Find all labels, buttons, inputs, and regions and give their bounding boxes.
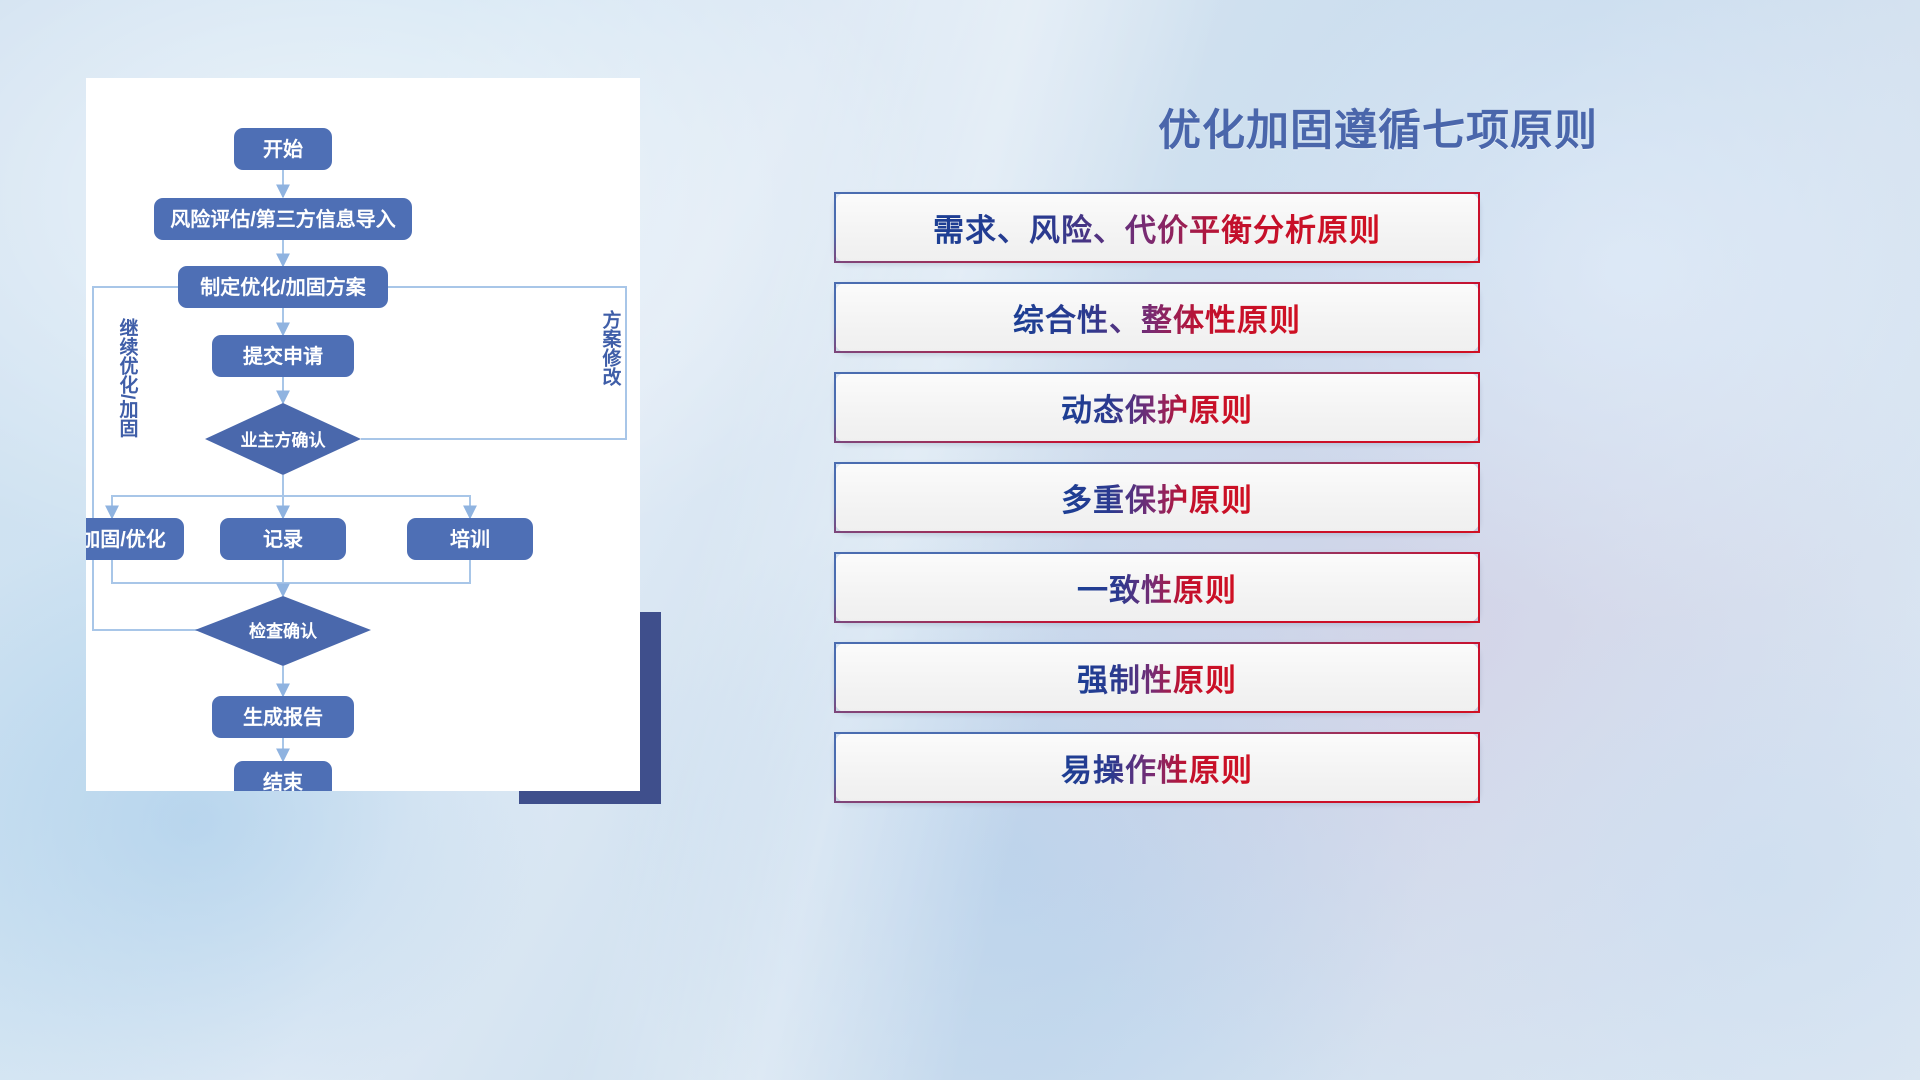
flow-node-check-label: 检查确认	[249, 621, 318, 641]
principle-label: 强制性原则	[1077, 655, 1237, 700]
flow-node-assess[interactable]: 风险评估/第三方信息导入	[154, 198, 412, 240]
flow-node-train[interactable]: 培训	[407, 518, 533, 560]
edge-bus-train	[283, 496, 470, 518]
principle-label: 易操作性原则	[1061, 745, 1253, 790]
flow-node-check[interactable]: 检查确认	[195, 596, 371, 666]
flow-node-plan[interactable]: 制定优化/加固方案	[178, 266, 388, 308]
principle-card-5[interactable]: 一致性原则	[834, 552, 1480, 623]
flow-node-record-label: 记录	[263, 528, 303, 551]
flowchart-diagram: 开始 风险评估/第三方信息导入 制定优化/加固方案 提交申请 业主方确认 加固/…	[86, 78, 640, 791]
flow-node-report[interactable]: 生成报告	[212, 696, 354, 738]
principle-card-3[interactable]: 动态保护原则	[834, 372, 1480, 443]
flow-node-reinforce-label: 加固/优化	[86, 527, 166, 551]
flow-node-submit-label: 提交申请	[243, 344, 323, 368]
principle-label: 一致性原则	[1077, 565, 1237, 610]
flow-node-reinforce[interactable]: 加固/优化	[86, 518, 184, 560]
principle-card-6[interactable]: 强制性原则	[834, 642, 1480, 713]
principle-label: 需求、风险、代价平衡分析原则	[933, 205, 1381, 250]
principle-card-2[interactable]: 综合性、整体性原则	[834, 282, 1480, 353]
principles-list: 需求、风险、代价平衡分析原则 综合性、整体性原则 动态保护原则 多重保护原则 一…	[834, 192, 1834, 822]
flowchart-panel: 开始 风险评估/第三方信息导入 制定优化/加固方案 提交申请 业主方确认 加固/…	[0, 0, 700, 1080]
flow-node-end[interactable]: 结束	[234, 761, 332, 791]
flow-node-plan-label: 制定优化/加固方案	[200, 275, 367, 299]
principle-label: 动态保护原则	[1061, 385, 1253, 430]
flow-connectors	[93, 170, 626, 761]
principle-card-7[interactable]: 易操作性原则	[834, 732, 1480, 803]
edge-bus-reinforce	[112, 496, 283, 518]
flow-node-approve-label: 业主方确认	[241, 430, 327, 450]
flow-edge-label-right: 方案修改	[600, 309, 623, 387]
flow-node-train-label: 培训	[450, 527, 490, 551]
flow-node-submit[interactable]: 提交申请	[212, 335, 354, 377]
flow-edge-label-left: 继续优化/加固	[117, 317, 140, 438]
principle-card-4[interactable]: 多重保护原则	[834, 462, 1480, 533]
flow-node-end-label: 结束	[263, 770, 304, 791]
edge-merge-bus	[112, 560, 470, 583]
page-title: 优化加固遵循七项原则	[1158, 96, 1598, 158]
flow-node-start-label: 开始	[263, 137, 303, 161]
principles-panel: 优化加固遵循七项原则 需求、风险、代价平衡分析原则 综合性、整体性原则 动态保护…	[940, 0, 1920, 1080]
principle-label: 综合性、整体性原则	[1013, 295, 1301, 340]
flow-node-report-label: 生成报告	[243, 705, 323, 729]
flow-node-start[interactable]: 开始	[234, 128, 332, 170]
principle-label: 多重保护原则	[1061, 475, 1253, 520]
flow-node-record[interactable]: 记录	[220, 518, 346, 560]
flow-node-approve[interactable]: 业主方确认	[205, 403, 361, 475]
principle-card-1[interactable]: 需求、风险、代价平衡分析原则	[834, 192, 1480, 263]
flow-node-assess-label: 风险评估/第三方信息导入	[170, 207, 396, 231]
